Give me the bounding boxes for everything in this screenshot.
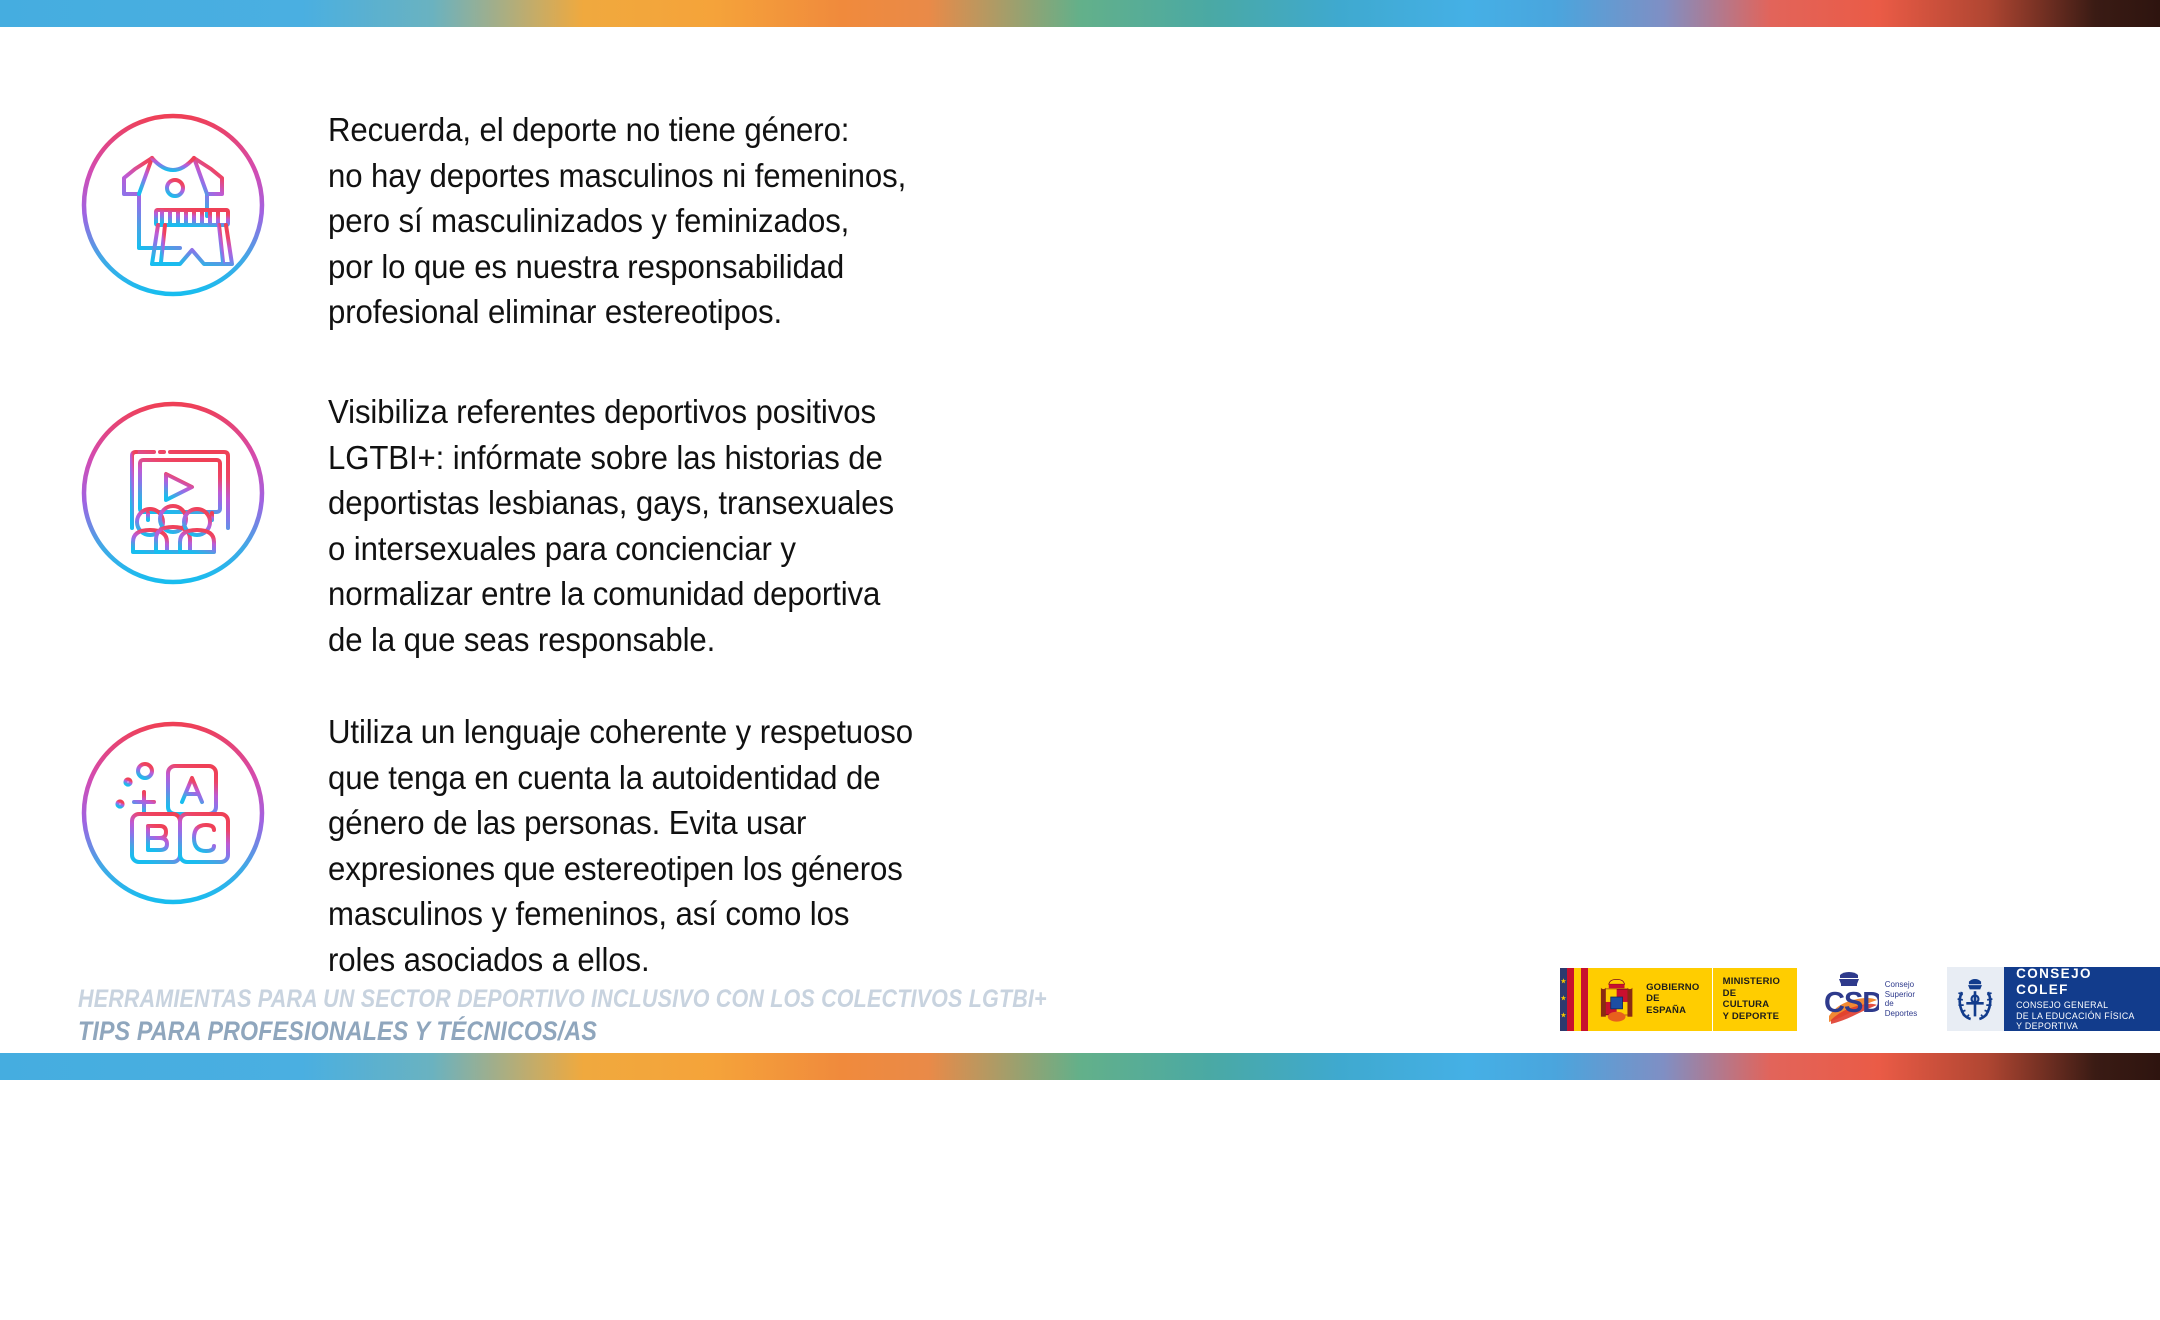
logo-strip: ★★★ GOBIERNO DE bbox=[1560, 963, 2160, 1035]
tip-item-sports-kit: Recuerda, el deporte no tiene género: no… bbox=[80, 112, 950, 336]
left-column: Recuerda, el deporte no tiene género: no… bbox=[0, 0, 1080, 1080]
tip-text: Visibiliza referentes deportivos positiv… bbox=[328, 390, 894, 663]
colef-title: CONSEJO COLEF bbox=[2016, 966, 2148, 998]
ministerio-block: MINISTERIO DE CULTURA Y DEPORTE bbox=[1713, 968, 1797, 1031]
consejo-colef-logo: CONSEJO COLEF CONSEJO GENERAL DE LA EDUC… bbox=[1947, 967, 2160, 1031]
abc-blocks-icon bbox=[80, 720, 266, 906]
csd-logo: CSD Consejo Superior de Deportes bbox=[1819, 968, 1925, 1030]
gobierno-block: GOBIERNO DE ESPAÑA bbox=[1588, 968, 1712, 1031]
tip-item-language: Utiliza un lenguaje coherente y respetuo… bbox=[80, 720, 957, 983]
footer-line-2: TIPS PARA PROFESIONALES Y TÉCNICOS/AS bbox=[78, 1015, 1047, 1048]
colef-text-block: CONSEJO COLEF CONSEJO GENERAL DE LA EDUC… bbox=[2004, 967, 2160, 1031]
svg-text:CSD: CSD bbox=[1824, 987, 1879, 1019]
tip-item-visibility: Visibiliza referentes deportivos positiv… bbox=[80, 400, 937, 663]
bottom-rainbow-bar bbox=[0, 1053, 2160, 1080]
gobierno-label: GOBIERNO DE ESPAÑA bbox=[1646, 982, 1702, 1017]
spain-coat-of-arms-icon bbox=[1596, 973, 1637, 1025]
tip-text: Utiliza un lenguaje coherente y respetuo… bbox=[328, 710, 913, 983]
ministerio-label: MINISTERIO DE CULTURA Y DEPORTE bbox=[1723, 976, 1785, 1022]
footer-line-1: HERRAMIENTAS PARA UN SECTOR DEPORTIVO IN… bbox=[78, 984, 1047, 1015]
right-column: Actúa e informa a tus superiores, siguie… bbox=[1080, 0, 2160, 1080]
eu-stars: ★★★ bbox=[1560, 968, 1567, 1031]
video-audience-icon bbox=[80, 400, 266, 586]
crown-icon bbox=[1839, 972, 1859, 986]
csd-mark-icon: CSD bbox=[1819, 970, 1879, 1028]
spain-flag-stripes: ★★★ bbox=[1560, 968, 1574, 1031]
footer-caption: HERRAMIENTAS PARA UN SECTOR DEPORTIVO IN… bbox=[78, 984, 1047, 1048]
csd-caption: Consejo Superior de Deportes bbox=[1885, 980, 1925, 1018]
sports-kit-icon bbox=[80, 112, 266, 298]
infographic-canvas: Recuerda, el deporte no tiene género: no… bbox=[0, 0, 2160, 1080]
gobierno-de-espana-logo: ★★★ GOBIERNO DE bbox=[1560, 968, 1797, 1031]
colef-subtitle: CONSEJO GENERAL DE LA EDUCACIÓN FÍSICA Y… bbox=[2016, 1000, 2148, 1032]
colef-crest-icon bbox=[1947, 967, 2004, 1031]
tip-text: Recuerda, el deporte no tiene género: no… bbox=[328, 108, 906, 336]
